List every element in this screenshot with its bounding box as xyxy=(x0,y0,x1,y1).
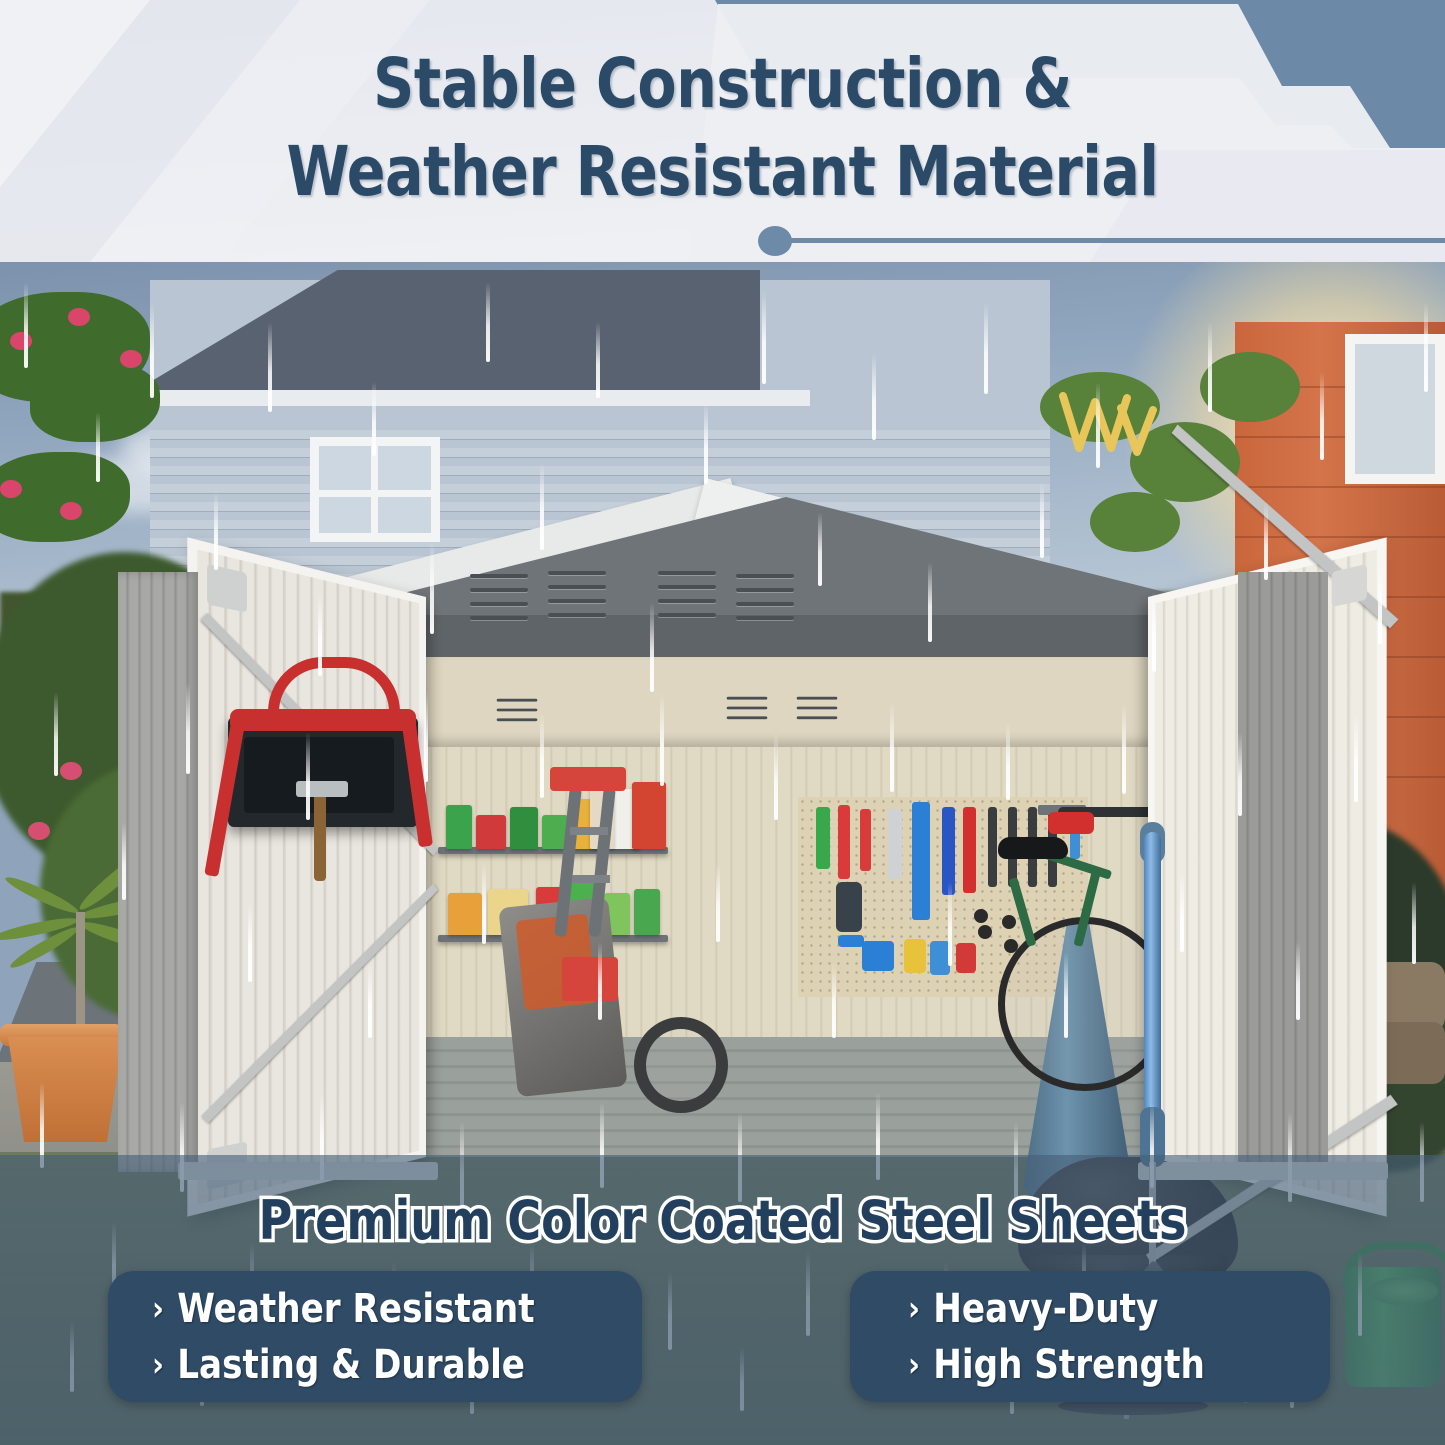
flower xyxy=(0,480,22,498)
chevron-right-icon: › xyxy=(152,1337,164,1393)
feature-label: Lasting & Durable xyxy=(177,1337,525,1393)
handcart-label xyxy=(550,767,626,791)
pliers-grip xyxy=(956,943,976,973)
chevron-right-icon: › xyxy=(152,1281,164,1337)
storage-shed xyxy=(118,357,1318,1187)
container xyxy=(476,815,506,849)
pliers-grip xyxy=(838,935,864,947)
shed-door-left[interactable] xyxy=(187,537,426,1216)
flower xyxy=(10,332,32,350)
interior-vent xyxy=(797,695,838,734)
plant-pot xyxy=(8,1037,123,1142)
flower xyxy=(68,308,90,326)
interior-vent xyxy=(727,695,768,734)
chevron-right-icon: › xyxy=(908,1337,920,1393)
title-line-2: Weather Resistant Material xyxy=(58,128,1387,216)
roof-vent xyxy=(736,572,794,628)
title-line-1: Stable Construction & xyxy=(373,44,1072,124)
rake-handle xyxy=(1144,832,1161,1132)
wrench xyxy=(988,807,997,887)
spirit-level xyxy=(912,802,930,920)
shed-side-left xyxy=(118,572,198,1172)
chevron-right-icon: › xyxy=(908,1281,920,1337)
red-toolbox xyxy=(562,957,618,1001)
container xyxy=(446,805,472,849)
product-infographic: Stable Construction & Weather Resistant … xyxy=(0,0,1445,1445)
bicycle-wheel xyxy=(974,909,988,923)
scissors xyxy=(862,941,894,971)
door-hinge xyxy=(207,564,247,613)
flower xyxy=(60,502,82,520)
hammer-handle xyxy=(314,793,326,881)
bicycle-grip xyxy=(1048,812,1094,834)
screwdriver xyxy=(963,807,976,893)
container xyxy=(510,807,538,849)
feature-box-right: › Heavy-Duty › High Strength xyxy=(850,1271,1330,1402)
shed-side-right xyxy=(1238,572,1328,1172)
header-banner: Stable Construction & Weather Resistant … xyxy=(0,0,1445,262)
tool-handle xyxy=(838,805,850,879)
feature-label: High Strength xyxy=(933,1337,1205,1393)
flower xyxy=(28,822,50,840)
bicycle-saddle xyxy=(998,837,1068,859)
bicycle-wheel xyxy=(1002,915,1016,929)
interior-vent xyxy=(497,697,538,736)
pliers-grip xyxy=(930,941,950,975)
door-hinge xyxy=(1332,564,1367,607)
feature-item: › Weather Resistant xyxy=(152,1281,618,1337)
feature-item: › Heavy-Duty xyxy=(908,1281,1309,1337)
pliers-grip xyxy=(904,939,926,973)
roof-vent xyxy=(658,569,716,625)
bicycle-wheel xyxy=(978,925,992,939)
feature-item: › High Strength xyxy=(908,1337,1309,1393)
handcart-rung xyxy=(572,875,610,883)
tool-handle xyxy=(860,809,871,871)
container xyxy=(632,782,666,849)
product-photo xyxy=(0,262,1445,1445)
feature-box-left: › Weather Resistant › Lasting & Durable xyxy=(108,1271,642,1402)
handcart-rung xyxy=(570,827,608,835)
wire-coil xyxy=(888,809,902,879)
container xyxy=(448,893,482,935)
title-divider-line xyxy=(786,238,1445,243)
feature-label: Heavy-Duty xyxy=(933,1281,1158,1337)
hammer-head xyxy=(296,781,348,797)
container xyxy=(634,889,660,935)
roof-vent xyxy=(470,572,528,628)
photo-caption: Premium Color Coated Steel Sheets xyxy=(36,1190,1409,1252)
brick-house-window xyxy=(1345,334,1445,484)
page-title: Stable Construction & Weather Resistant … xyxy=(58,40,1387,216)
mower-wheel xyxy=(634,1017,728,1113)
screwdriver xyxy=(942,807,955,895)
tool-handle xyxy=(816,807,830,869)
feature-label: Weather Resistant xyxy=(177,1281,534,1337)
pliers xyxy=(836,882,862,932)
feature-item: › Lasting & Durable xyxy=(152,1337,618,1393)
roof-vent xyxy=(548,569,606,625)
flower xyxy=(60,762,82,780)
